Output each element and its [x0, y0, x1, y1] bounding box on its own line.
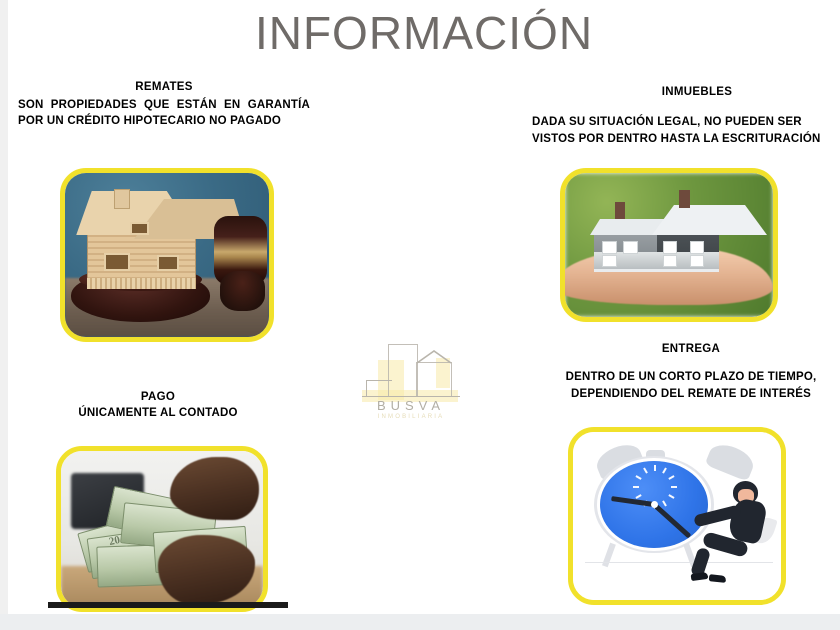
slide-canvas: INFORMACIÓN REMATES SON PROPIEDADES QUE … [8, 0, 840, 614]
slide-screen: INFORMACIÓN REMATES SON PROPIEDADES QUE … [0, 0, 840, 630]
house-window [663, 241, 678, 254]
house-window [602, 241, 617, 254]
clock-tick [671, 486, 677, 488]
house-window [690, 255, 705, 267]
clock-tick [636, 475, 642, 480]
house-window [623, 241, 638, 254]
clock-minute-hand [611, 496, 655, 507]
clock-hour-hand [652, 502, 691, 538]
remates-heading: REMATES [18, 80, 310, 95]
hand-holding-house-photo [565, 173, 773, 317]
clock-tick [662, 467, 667, 473]
house-chimney [114, 189, 130, 209]
logo-roof-icon [416, 350, 452, 364]
pago-body: ÚNICAMENTE AL CONTADO [30, 405, 286, 421]
clock-tick [636, 494, 642, 499]
person-shoe [709, 574, 726, 583]
clock-person-illustration [573, 432, 781, 600]
logo-name: BUSVA [356, 398, 466, 413]
section-pago-text: PAGO ÚNICAMENTE AL CONTADO [30, 390, 286, 421]
entrega-image-frame [568, 427, 786, 605]
section-remates-text: REMATES SON PROPIEDADES QUE ESTÁN EN GAR… [18, 80, 310, 129]
pago-heading: PAGO [30, 390, 286, 405]
inmuebles-body-line2: VISTOS POR DENTRO HASTA LA ESCRITURACIÓN [532, 131, 840, 148]
section-inmuebles-text: INMUEBLES DADA SU SITUACIÓN LEGAL, NO PU… [532, 85, 840, 148]
logo-building-tower-icon [388, 344, 418, 396]
clock-tick [654, 465, 656, 471]
gavel-head-base [220, 271, 265, 310]
person-figure [690, 479, 773, 583]
clock-tick [633, 486, 639, 488]
house-chimney [615, 202, 625, 219]
house-window [663, 255, 678, 267]
counting-money-photo: 20 20 10 [61, 451, 263, 607]
entrega-body-line2: DEPENDIENDO DEL REMATE DE INTERÉS [536, 386, 840, 403]
house-chimney [679, 190, 689, 207]
clock-tick [643, 467, 648, 473]
inmuebles-body-line1: DADA SU SITUACIÓN LEGAL, NO PUEDEN SER [532, 114, 840, 131]
inmuebles-heading: INMUEBLES [532, 85, 840, 100]
house-window [130, 222, 148, 235]
remates-image-frame [60, 168, 274, 342]
logo-ground-line [362, 396, 460, 397]
house-window [157, 255, 179, 271]
clock-tick [668, 475, 674, 480]
busva-logo-watermark: BUSVA Inmobiliaria [356, 336, 466, 422]
house-window [690, 241, 705, 254]
section-entrega-text: ENTREGA DENTRO DE UN CORTO PLAZO DE TIEM… [536, 342, 840, 403]
clock-tick [662, 500, 667, 506]
clock-center-hub [651, 501, 658, 508]
house-porch [87, 278, 195, 289]
logo-subtitle: Inmobiliaria [356, 414, 466, 420]
bottom-divider-bar [48, 602, 288, 608]
entrega-body-line1: DENTRO DE UN CORTO PLAZO DE TIEMPO, [536, 369, 840, 386]
pago-image-frame: 20 20 10 [56, 446, 268, 612]
entrega-heading: ENTREGA [536, 342, 840, 357]
hand-upper [170, 457, 259, 519]
house-window [104, 253, 131, 271]
logo-base-step-icon [366, 380, 392, 396]
house-roof-right [652, 205, 767, 235]
house-window [602, 255, 617, 267]
clock-tick [668, 494, 674, 499]
remates-body: SON PROPIEDADES QUE ESTÁN EN GARANTÍA PO… [18, 97, 310, 129]
wooden-house-gavel-photo [65, 173, 269, 337]
page-title: INFORMACIÓN [8, 6, 840, 60]
logo-building-house-icon [416, 362, 452, 396]
person-shoe [691, 572, 708, 582]
page-bottom-strip [0, 614, 840, 630]
inmuebles-image-frame [560, 168, 778, 322]
